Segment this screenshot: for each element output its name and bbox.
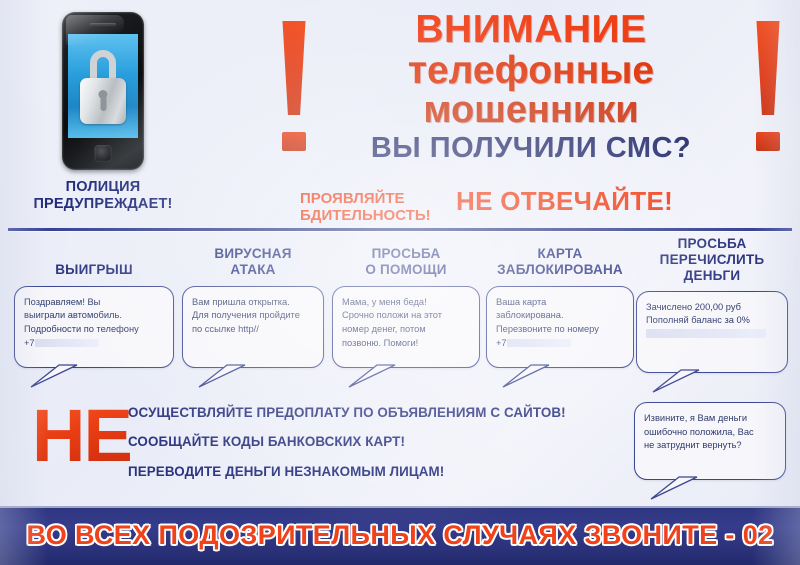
column-title: ВИРУСНАЯ АТАКА xyxy=(182,236,324,278)
headline-text: ВНИМАНИЕ телефонные мошенники ВЫ ПОЛУЧИЛ… xyxy=(318,10,744,165)
headline-block: ВНИМАНИЕ телефонные мошенники ВЫ ПОЛУЧИЛ… xyxy=(276,10,786,225)
column-title-line: ПРОСЬБА xyxy=(332,246,480,262)
be-vigilant-text: ПРОЯВЛЯЙТЕ БДИТЕЛЬНОСТЬ! xyxy=(300,188,452,224)
exclamation-stem xyxy=(278,21,310,115)
banner-top-edge xyxy=(0,506,800,508)
sms-line: номер денег, потом xyxy=(342,323,471,337)
sms-line: выиграли автомобиль. xyxy=(24,309,165,323)
sms-line xyxy=(646,328,779,342)
scam-column-help-request: ПРОСЬБА О ПОМОЩИ Мама, у меня беда! Сроч… xyxy=(332,236,480,368)
sms-line: Поздравляем! Вы xyxy=(24,296,165,310)
prohibition-list: ОСУЩЕСТВЛЯЙТЕ ПРЕДОПЛАТУ ПО ОБЪЯВЛЕНИЯМ … xyxy=(128,406,628,494)
headline-line-attention: ВНИМАНИЕ xyxy=(318,10,744,49)
padlock-keyhole xyxy=(99,90,108,99)
redacted-phone-number xyxy=(507,339,571,347)
sms-bubble-virus: Вам пришла открытка. Для получения пройд… xyxy=(182,286,324,368)
sms-line: ошибочно положила, Вас xyxy=(644,426,777,440)
exclamation-dot xyxy=(282,132,305,151)
padlock-icon xyxy=(80,50,126,124)
smartphone-icon xyxy=(62,12,144,170)
column-title-line: ПЕРЕЧИСЛИТЬ xyxy=(636,252,788,268)
sms-line: позвоню. Помоги! xyxy=(342,337,471,351)
ne-word: НЕ xyxy=(32,401,131,471)
exclamation-dot xyxy=(756,132,779,151)
sms-line: заблокирована. xyxy=(496,309,625,323)
section-divider-top xyxy=(8,228,792,231)
scam-type-columns: ВЫИГРЫШ Поздравляем! Вы выиграли автомоб… xyxy=(0,236,800,396)
police-caption-line-2: ПРЕДУПРЕЖДАЕТ! xyxy=(14,196,192,213)
sms-line: Подробности по телефону xyxy=(24,323,165,337)
apology-bubble-wrap: Извините, я Вам деньги ошибочно положила… xyxy=(634,402,786,480)
sms-bubble-help-request: Мама, у меня беда! Срочно положи на этот… xyxy=(332,286,480,368)
bubble-tail xyxy=(29,364,79,388)
banner-text: ВО ВСЕХ ПОДОЗРИТЕЛЬНЫХ СЛУЧАЯХ ЗВОНИТЕ -… xyxy=(26,520,773,551)
poster-header: ПОЛИЦИЯ ПРЕДУПРЕЖДАЕТ! ВНИМАНИЕ телефонн… xyxy=(0,0,800,229)
headline-subrow: ПРОЯВЛЯЙТЕ БДИТЕЛЬНОСТЬ! НЕ ОТВЕЧАЙТЕ! xyxy=(300,188,770,224)
column-title: ПРОСЬБА ПЕРЕЧИСЛИТЬ ДЕНЬГИ xyxy=(636,236,788,284)
sms-line: +7 xyxy=(496,337,625,351)
call-02-banner: ВО ВСЕХ ПОДОЗРИТЕЛЬНЫХ СЛУЧАЯХ ЗВОНИТЕ -… xyxy=(0,506,800,565)
police-caption-line-1: ПОЛИЦИЯ xyxy=(14,179,192,196)
scam-warning-poster: ПОЛИЦИЯ ПРЕДУПРЕЖДАЕТ! ВНИМАНИЕ телефонн… xyxy=(0,0,800,565)
be-vigilant-line-1: ПРОЯВЛЯЙТЕ xyxy=(300,191,452,208)
sms-line: Зачислено 200,00 руб xyxy=(646,301,779,315)
sms-line: Мама, у меня беда! xyxy=(342,296,471,310)
prohibition-line: СООБЩАЙТЕ КОДЫ БАНКОВСКИХ КАРТ! xyxy=(128,435,628,448)
headline-line-received-sms: ВЫ ПОЛУЧИЛИ СМС? xyxy=(318,133,744,165)
column-title-line: КАРТА xyxy=(486,246,634,262)
do-not-answer-text: НЕ ОТВЕЧАЙТЕ! xyxy=(452,188,673,214)
redacted-text xyxy=(646,329,766,338)
sms-line: Перезвоните по номеру xyxy=(496,323,625,337)
police-warning-block: ПОЛИЦИЯ ПРЕДУПРЕЖДАЕТ! xyxy=(14,12,192,213)
bubble-tail xyxy=(347,364,397,388)
headline-line-telephone: телефонные xyxy=(318,50,744,91)
prohibition-line: ПЕРЕВОДИТЕ ДЕНЬГИ НЕЗНАКОМЫМ ЛИЦАМ! xyxy=(128,465,628,478)
exclamation-mark-right-icon xyxy=(752,21,784,151)
column-title-line: О ПОМОЩИ xyxy=(332,262,480,278)
sms-bubble-card-blocked: Ваша карта заблокирована. Перезвоните по… xyxy=(486,286,634,368)
scam-column-card-blocked: КАРТА ЗАБЛОКИРОВАНА Ваша карта заблокиро… xyxy=(486,236,634,368)
sms-line: Срочно положи на этот xyxy=(342,309,471,323)
column-title-line: ВИРУСНАЯ xyxy=(182,246,324,262)
sms-bubble-prize: Поздравляем! Вы выиграли автомобиль. Под… xyxy=(14,286,174,368)
column-title: КАРТА ЗАБЛОКИРОВАНА xyxy=(486,236,634,278)
column-title-line: АТАКА xyxy=(182,262,324,278)
column-title: ВЫИГРЫШ xyxy=(14,236,174,278)
headline-line-fraudsters: мошенники xyxy=(318,91,744,131)
bubble-tail xyxy=(501,364,551,388)
sms-line: не затруднит вернуть? xyxy=(644,439,777,453)
sms-line: по ссылке http// xyxy=(192,323,315,337)
prohibition-line: ОСУЩЕСТВЛЯЙТЕ ПРЕДОПЛАТУ ПО ОБЪЯВЛЕНИЯМ … xyxy=(128,406,628,419)
exclamation-mark-left-icon xyxy=(278,21,310,151)
column-title-line: ПРОСЬБА xyxy=(636,236,788,252)
sms-bubble-apology: Извините, я Вам деньги ошибочно положила… xyxy=(634,402,786,480)
phone-screen xyxy=(68,34,138,138)
scam-column-virus: ВИРУСНАЯ АТАКА Вам пришла открытка. Для … xyxy=(182,236,324,368)
bubble-tail xyxy=(197,364,247,388)
column-title: ПРОСЬБА О ПОМОЩИ xyxy=(332,236,480,278)
sms-line: Вам пришла открытка. xyxy=(192,296,315,310)
column-title-line: ЗАБЛОКИРОВАНА xyxy=(486,262,634,278)
bubble-tail xyxy=(651,369,701,393)
exclamation-stem xyxy=(752,21,784,115)
bubble-tail xyxy=(649,476,699,500)
sms-line: Ваша карта xyxy=(496,296,625,310)
sms-line: Извините, я Вам деньги xyxy=(644,412,777,426)
scam-column-prize: ВЫИГРЫШ Поздравляем! Вы выиграли автомоб… xyxy=(14,236,174,368)
sms-line: +7 xyxy=(24,337,165,351)
phone-home-button xyxy=(95,145,112,162)
redacted-phone-number xyxy=(35,339,99,347)
scam-column-transfer-money: ПРОСЬБА ПЕРЕЧИСЛИТЬ ДЕНЬГИ Зачислено 200… xyxy=(636,236,788,373)
sms-bubble-transfer-money: Зачислено 200,00 руб Пополняй баланс за … xyxy=(636,291,788,373)
police-warning-caption: ПОЛИЦИЯ ПРЕДУПРЕЖДАЕТ! xyxy=(14,179,192,213)
column-title-line: ВЫИГРЫШ xyxy=(14,262,174,278)
padlock-shackle xyxy=(90,50,116,80)
column-title-line: ДЕНЬГИ xyxy=(636,268,788,284)
be-vigilant-line-2: БДИТЕЛЬНОСТЬ! xyxy=(300,208,452,225)
sms-line: Пополняй баланс за 0% xyxy=(646,314,779,328)
padlock-body xyxy=(80,78,126,124)
sms-line: Для получения пройдите xyxy=(192,309,315,323)
